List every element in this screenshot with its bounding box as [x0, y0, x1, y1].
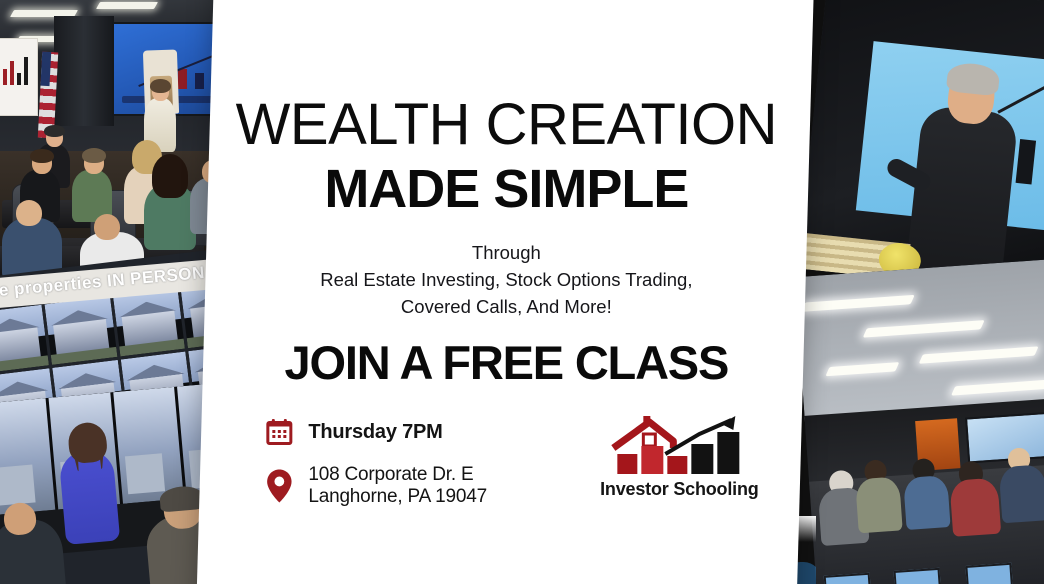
flyer-canvas: ut the properties IN PERSON	[0, 0, 1044, 584]
content-card: WEALTH CREATION MADE SIMPLE Through Real…	[196, 0, 815, 584]
auditorium-audience-photo	[795, 260, 1044, 584]
logo-text: Investor Schooling	[594, 479, 764, 500]
calendar-icon	[262, 418, 296, 446]
address-line-1: 108 Corporate Dr. E	[308, 464, 473, 485]
subtitle-line-1: Real Estate Investing, Stock Options Tra…	[206, 267, 806, 294]
house-bar-chart-arrow-logo-icon	[603, 414, 755, 476]
map-pin-icon	[262, 469, 296, 503]
headline-primary: WEALTH CREATION	[206, 96, 806, 154]
headline-secondary: MADE SIMPLE	[206, 162, 806, 216]
event-datetime-text: Thursday 7PM	[308, 421, 442, 444]
cta-headline: JOIN A FREE CLASS	[206, 339, 806, 386]
event-location-row: 108 Corporate Dr. E Langhorne, PA 19047	[262, 464, 562, 508]
event-details: Thursday 7PM 108 Corporate Dr. E Langhor…	[262, 418, 562, 508]
male-presenter-photo	[797, 0, 1044, 294]
event-address-text: 108 Corporate Dr. E Langhorne, PA 19047	[308, 464, 487, 508]
subtitle-block: Through Real Estate Investing, Stock Opt…	[206, 240, 806, 320]
subtitle-through: Through	[206, 240, 806, 267]
address-line-2: Langhorne, PA 19047	[308, 486, 487, 507]
investor-schooling-logo: Investor Schooling	[594, 414, 764, 500]
subtitle-line-2: Covered Calls, And More!	[206, 294, 806, 321]
event-datetime-row: Thursday 7PM	[262, 418, 562, 446]
